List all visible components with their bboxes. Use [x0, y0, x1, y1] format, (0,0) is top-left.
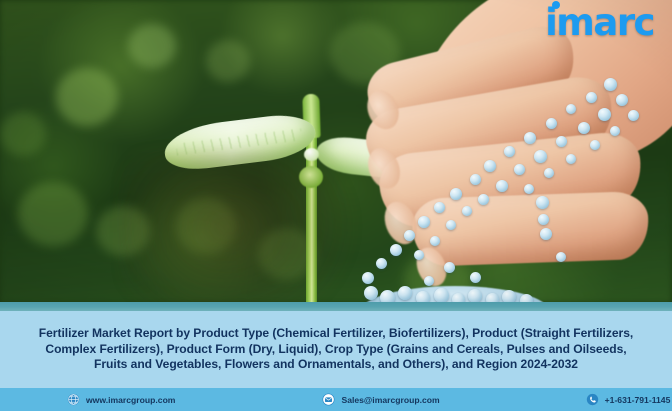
report-cover-banner: imarc Fertilizer Market Report by Produc…: [0, 0, 672, 411]
hand-shadow: [120, 150, 360, 303]
report-title-block: Fertilizer Market Report by Product Type…: [0, 311, 672, 388]
imarc-logo-text: imarc: [545, 1, 654, 44]
footer-phone[interactable]: +1-631-791-1145: [586, 393, 671, 406]
teal-divider: [0, 302, 672, 311]
footer-email-label: Sales@imarcgroup.com: [341, 395, 439, 405]
envelope-icon: [322, 393, 335, 406]
footer-website[interactable]: www.imarcgroup.com: [67, 393, 175, 406]
phone-icon: [586, 393, 599, 406]
footer-email[interactable]: Sales@imarcgroup.com: [322, 393, 439, 406]
report-title: Fertilizer Market Report by Product Type…: [31, 326, 641, 373]
imarc-logo[interactable]: imarc: [545, 4, 654, 41]
footer-website-label: www.imarcgroup.com: [86, 395, 175, 405]
footer-phone-label: +1-631-791-1145: [605, 395, 671, 405]
globe-icon: [67, 393, 80, 406]
contact-footer: www.imarcgroup.com Sales@imarcgroup.com: [0, 388, 672, 411]
hero-photo: imarc: [0, 0, 672, 303]
